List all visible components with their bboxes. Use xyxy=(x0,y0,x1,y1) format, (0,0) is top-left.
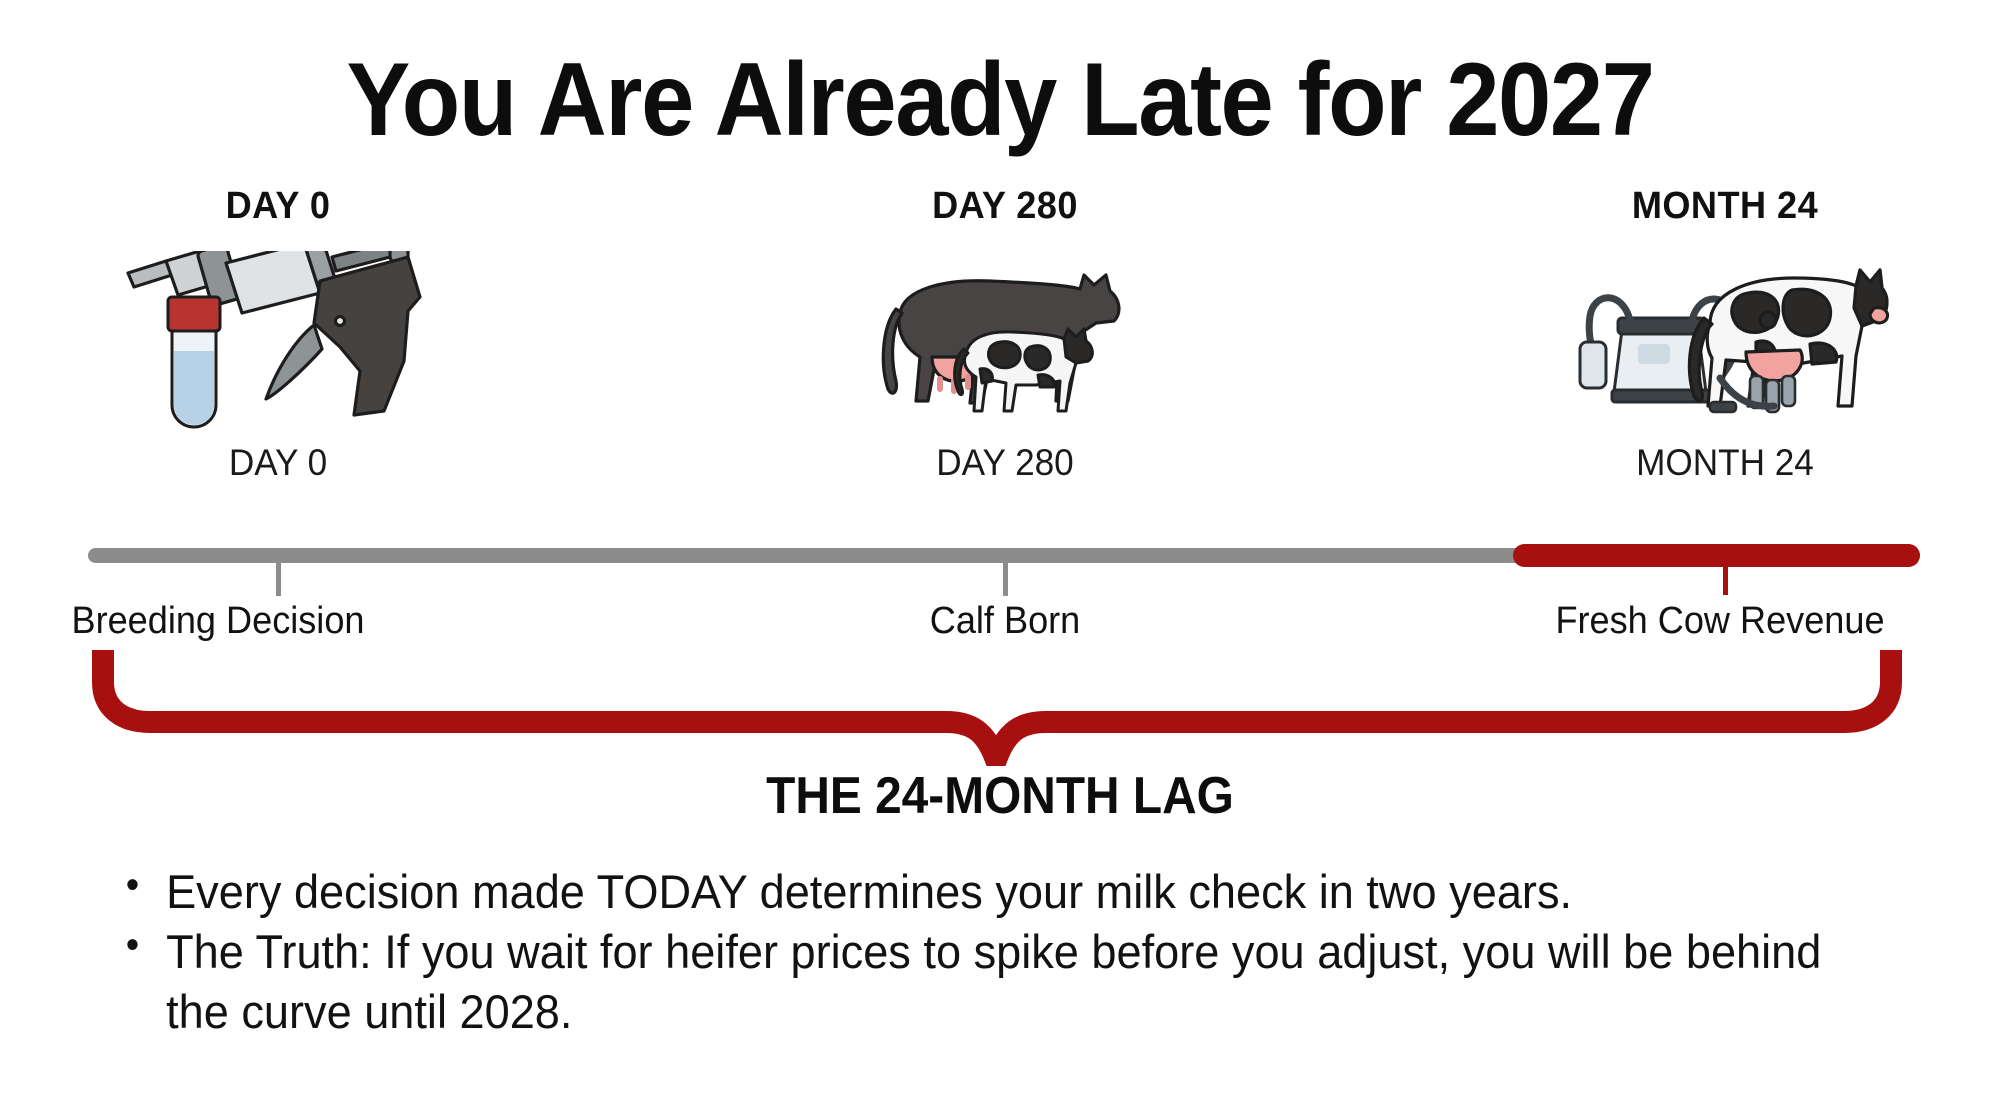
ai-breeding-gun-and-semen-straw-icon xyxy=(68,246,488,436)
lag-label: THE 24-MONTH LAG xyxy=(80,766,1920,826)
list-item: The Truth: If you wait for heifer prices… xyxy=(120,922,1838,1042)
stage-heading: MONTH 24 xyxy=(1526,185,1925,228)
stage-sublabel: MONTH 24 xyxy=(1526,442,1925,484)
timeline-track-highlight-segment xyxy=(1513,544,1920,567)
timeline-tick-month-24 xyxy=(1723,565,1728,595)
lag-span-brace xyxy=(0,636,2000,766)
timeline-stage-day-280: DAY 280 xyxy=(795,185,1215,484)
holstein-cow-with-milking-machine-icon xyxy=(1515,246,1935,436)
stage-heading: DAY 280 xyxy=(806,185,1205,228)
list-item: Every decision made TODAY determines you… xyxy=(120,862,1838,922)
timeline-tick-day-280 xyxy=(1003,560,1008,596)
stage-sublabel: DAY 280 xyxy=(806,442,1205,484)
cow-with-newborn-calf-icon xyxy=(795,246,1215,436)
stage-sublabel: DAY 0 xyxy=(79,442,478,484)
timeline-diagram: DAY 0 xyxy=(0,0,2000,680)
timeline-tick-day-0 xyxy=(276,560,281,596)
takeaway-bullet-list: Every decision made TODAY determines you… xyxy=(120,862,1910,1042)
timeline-stage-month-24: MONTH 24 xyxy=(1515,185,1935,484)
stage-heading: DAY 0 xyxy=(79,185,478,228)
timeline-stage-day-0: DAY 0 xyxy=(68,185,488,484)
